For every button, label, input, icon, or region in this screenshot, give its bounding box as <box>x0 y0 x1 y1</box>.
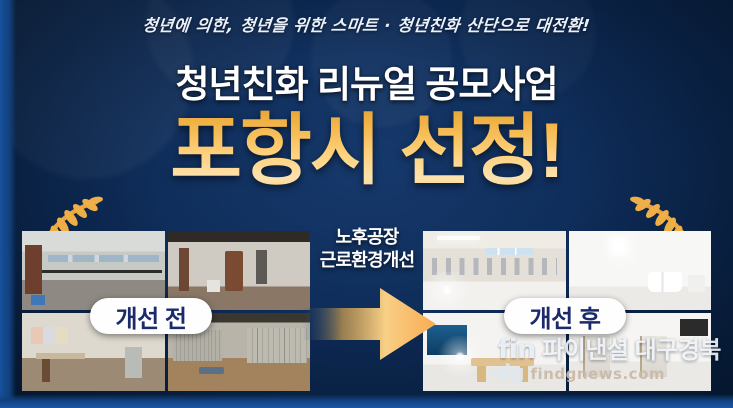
main-title-block: 포항시 선정! <box>0 100 733 200</box>
right-arrow-icon <box>302 286 436 362</box>
lens-flare-icon <box>591 231 651 269</box>
page-title: 포항시 선정! <box>0 100 733 200</box>
news-banner-graphic: 청년에 의한, 청년을 위한 스마트 · 청년친화 산단으로 대전환! 청년친화… <box>0 0 733 408</box>
center-caption-line2: 근로환경개선 <box>282 249 452 272</box>
center-caption: 노후공장 근로환경개선 <box>282 226 452 272</box>
badge-after: 개선 후 <box>504 298 626 334</box>
badge-before: 개선 전 <box>90 298 212 334</box>
bottom-edge-accent <box>0 394 733 408</box>
center-caption-line1: 노후공장 <box>282 226 452 249</box>
banner-subtitle: 청년에 의한, 청년을 위한 스마트 · 청년친화 산단으로 대전환! <box>0 12 733 36</box>
